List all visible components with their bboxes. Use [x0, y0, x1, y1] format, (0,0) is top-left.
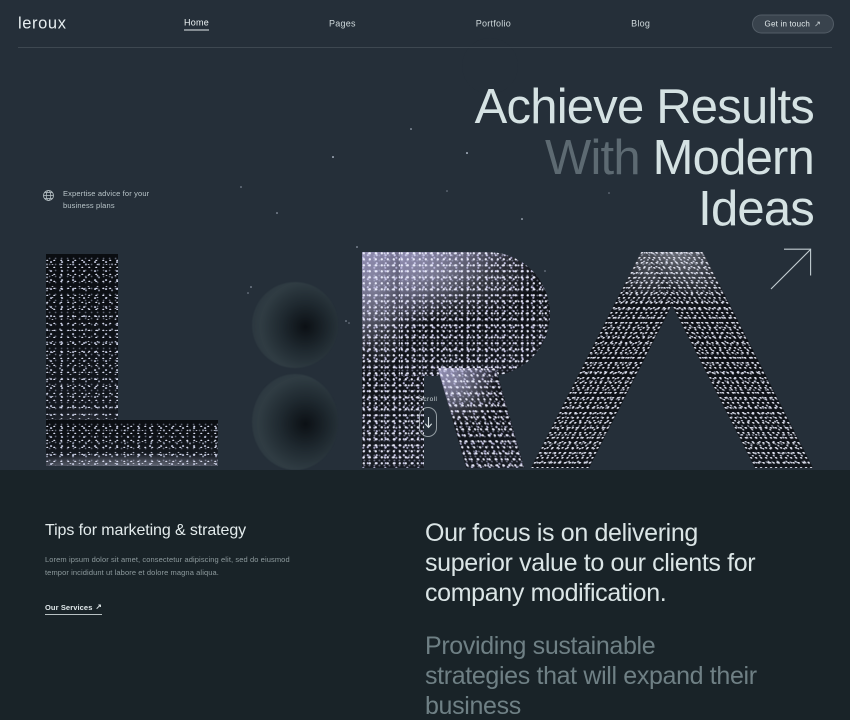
globe-icon — [42, 189, 55, 202]
wordmark-colon-dot-top — [252, 282, 338, 368]
arrow-down-icon — [424, 416, 433, 429]
tips-body: Lorem ipsum dolor sit amet, consectetur … — [45, 553, 295, 580]
wordmark-letter-r-bowl — [400, 252, 550, 376]
hero-badge-text: Expertise advice for your business plans — [63, 188, 149, 211]
our-services-link[interactable]: Our Services ↗ — [45, 603, 102, 616]
nav-item-home[interactable]: Home — [184, 18, 209, 31]
scroll-label: Scroll — [419, 396, 438, 403]
arrow-up-right-icon: ↗ — [814, 20, 821, 28]
scroll-indicator[interactable]: Scroll — [415, 396, 441, 437]
header-divider — [18, 47, 832, 48]
nav-item-pages[interactable]: Pages — [329, 18, 356, 30]
main-nav: Home Pages Portfolio Blog — [170, 18, 690, 31]
our-services-label: Our Services — [45, 603, 92, 612]
hero-badge-line-2: business plans — [63, 201, 115, 210]
wordmark-letter-l-foot — [46, 420, 218, 466]
hero-badge: Expertise advice for your business plans — [42, 188, 149, 211]
site-header: leroux Home Pages Portfolio Blog Get in … — [0, 0, 850, 48]
hero-heading: Achieve Results With Modern Ideas — [214, 82, 814, 235]
focus-block: Our focus is on delivering superior valu… — [425, 518, 765, 720]
tips-title: Tips for marketing & strategy — [45, 522, 305, 540]
focus-sub-text: Providing sustainable strategies that wi… — [425, 631, 765, 720]
arrow-up-right-icon: ↗ — [95, 603, 101, 611]
scroll-pill[interactable] — [419, 407, 437, 437]
brand-logo[interactable]: leroux — [18, 15, 67, 34]
landing-page: Achieve Results With Modern Ideas Expert… — [0, 0, 850, 720]
tips-block: Tips for marketing & strategy Lorem ipsu… — [45, 522, 305, 615]
wordmark-colon-dot-bottom — [252, 374, 338, 470]
nav-item-blog[interactable]: Blog — [631, 18, 650, 30]
focus-lead-text: Our focus is on delivering superior valu… — [425, 518, 765, 608]
arrow-up-right-large-icon[interactable] — [770, 248, 812, 290]
nav-item-portfolio[interactable]: Portfolio — [476, 18, 511, 30]
get-in-touch-label: Get in touch — [765, 20, 811, 29]
get-in-touch-button[interactable]: Get in touch ↗ — [752, 15, 834, 34]
hero-badge-line-1: Expertise advice for your — [63, 189, 149, 198]
wordmark-letter-r-leg — [438, 368, 525, 468]
hero-heading-line-3: Ideas — [698, 182, 814, 236]
hero-heading-line-1: Achieve Results — [475, 80, 814, 134]
hero-section: Achieve Results With Modern Ideas Expert… — [0, 0, 850, 470]
value-section: Tips for marketing & strategy Lorem ipsu… — [0, 470, 850, 720]
hero-heading-line-2-dim: With — [545, 131, 640, 185]
hero-heading-line-2-bright: Modern — [653, 131, 814, 185]
